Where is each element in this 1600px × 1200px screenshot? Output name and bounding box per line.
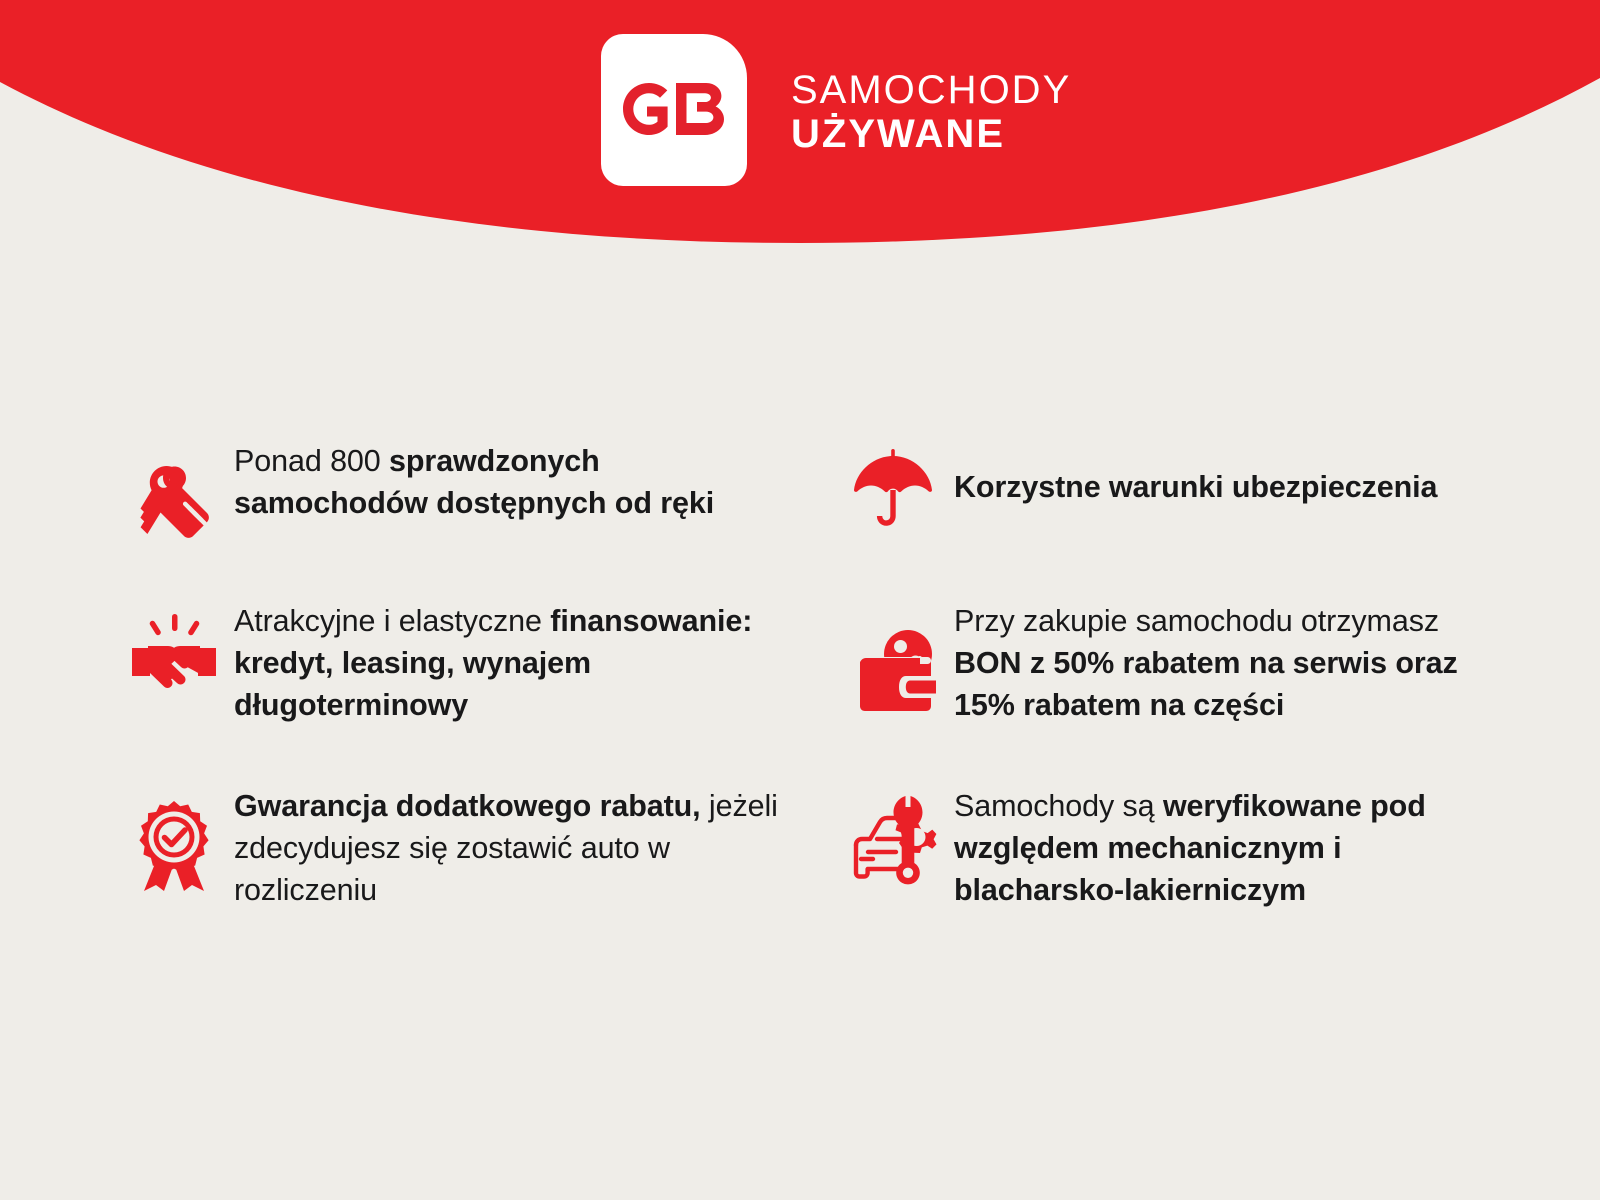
benefit-text: Przy zakupie samochodu otrzymasz BON z 5… <box>954 600 1494 726</box>
benefit-text-part-bold: Korzystne warunki ubezpieczenia <box>954 470 1437 504</box>
benefit-text-part: Ponad 800 <box>234 444 389 478</box>
brand-logo-lockup[interactable]: SAMOCHODY UŻYWANE <box>601 34 1071 186</box>
award-badge-check-icon <box>130 799 234 891</box>
benefit-item-financing: Atrakcyjne i elastyczne finansowanie: kr… <box>130 600 850 785</box>
benefit-text-part: Przy zakupie samochodu otrzymasz <box>954 604 1439 638</box>
benefit-item-trade-in-guarantee: Gwarancja dodatkowego rabatu, jeżeli zde… <box>130 785 850 911</box>
wordmark-line-2: UŻYWANE <box>791 114 1071 156</box>
car-keys-icon <box>130 462 234 540</box>
benefit-text-part-bold: Gwarancja dodatkowego rabatu, <box>234 789 701 823</box>
benefit-text-part: Atrakcyjne i elastyczne <box>234 604 550 638</box>
benefit-text-part-bold: BON z 50% rabatem na serwis oraz 15% rab… <box>954 646 1458 722</box>
brand-wordmark: SAMOCHODY UŻYWANE <box>791 64 1071 155</box>
benefit-text: Gwarancja dodatkowego rabatu, jeżeli zde… <box>234 785 794 911</box>
benefits-column-right: Korzystne warunki ubezpieczenia <box>850 440 1600 911</box>
wallet-percent-icon <box>850 628 954 720</box>
umbrella-icon <box>850 448 954 532</box>
benefit-item-service-voucher: Przy zakupie samochodu otrzymasz BON z 5… <box>850 600 1600 785</box>
handshake-icon <box>130 612 234 696</box>
promo-banner-page: SAMOCHODY UŻYWANE <box>0 0 1600 1200</box>
benefits-column-left: Ponad 800 sprawdzonych samochodów dostęp… <box>130 440 850 911</box>
car-wrench-gear-icon <box>850 793 954 885</box>
benefit-text-part: Samochody są <box>954 789 1163 823</box>
benefit-text: Ponad 800 sprawdzonych samochodów dostęp… <box>234 440 794 524</box>
benefit-item-vehicle-inspection: Samochody są weryfikowane pod względem m… <box>850 785 1600 911</box>
benefit-text: Atrakcyjne i elastyczne finansowanie: kr… <box>234 600 794 726</box>
wordmark-line-1: SAMOCHODY <box>791 70 1071 112</box>
benefit-item-cars-available: Ponad 800 sprawdzonych samochodów dostęp… <box>130 440 850 600</box>
gb-monogram-icon <box>601 34 747 186</box>
benefits-grid: Ponad 800 sprawdzonych samochodów dostęp… <box>0 440 1600 911</box>
benefit-text: Korzystne warunki ubezpieczenia <box>954 440 1437 508</box>
benefit-item-insurance: Korzystne warunki ubezpieczenia <box>850 440 1600 600</box>
benefit-text: Samochody są weryfikowane pod względem m… <box>954 785 1494 911</box>
